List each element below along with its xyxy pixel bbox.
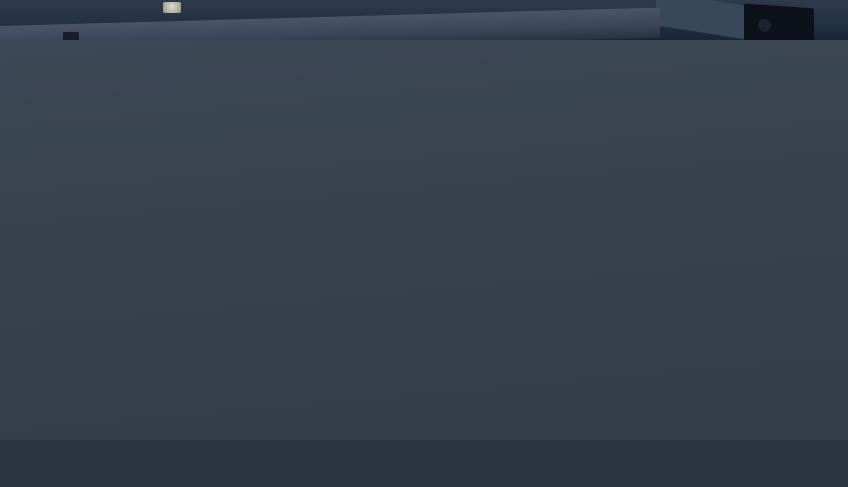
conference-presentation-photo: H	[0, 0, 848, 487]
ceiling-light-icon	[163, 2, 181, 13]
left-wall	[0, 40, 200, 440]
